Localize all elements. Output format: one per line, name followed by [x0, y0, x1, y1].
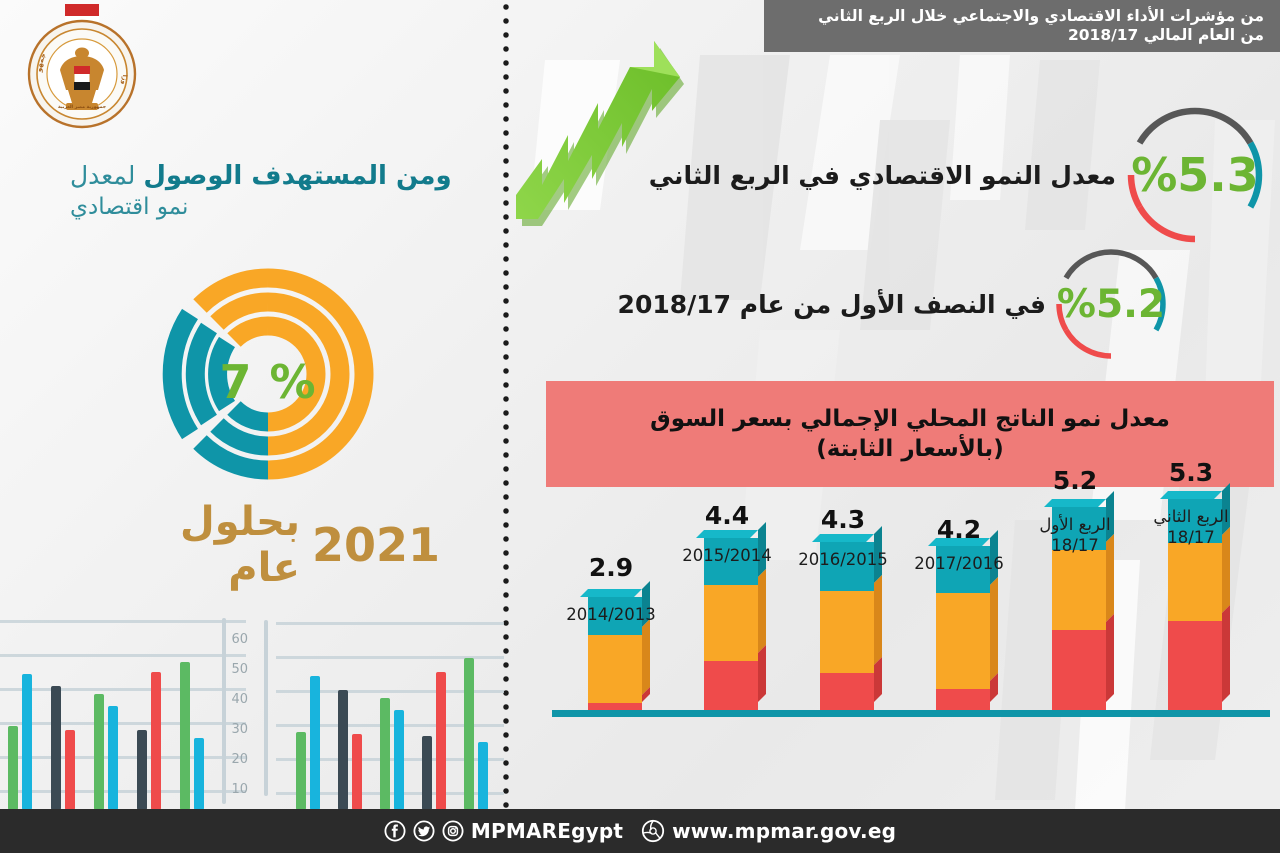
bar-category-line1: الربع الثاني: [1153, 507, 1228, 526]
decorative-chart-right: [262, 610, 507, 810]
mini-tick-20: 20: [231, 752, 248, 767]
bar-top-face: [696, 530, 750, 538]
target-growth-donut: 7 %: [118, 238, 418, 526]
chart-baseline: [552, 710, 1270, 717]
bar-top-face: [812, 534, 866, 542]
mini-tick-60: 60: [231, 632, 248, 647]
infographic-canvas: من مؤشرات الأداء الاقتصادي والاجتماعي خل…: [0, 0, 1280, 853]
target-year-prefix: بحلول عام: [100, 499, 300, 591]
facebook-icon[interactable]: [384, 820, 406, 842]
bar-segment-red: [820, 673, 874, 710]
stat-h1-value: %5.2: [1050, 243, 1172, 365]
stat-h1-ring: %5.2: [1050, 243, 1172, 365]
twitter-icon[interactable]: [413, 820, 435, 842]
bar-category-label: الربع الثاني 18/17: [1128, 507, 1254, 548]
bar-value-label: 4.3: [798, 505, 888, 534]
bar-top-face: [1044, 499, 1098, 507]
bar-category-label: 2017/2016: [896, 554, 1022, 575]
mini-tick-40: 40: [231, 692, 248, 707]
bar-segment-red: [1052, 630, 1106, 710]
bar-column: 4.3 2016/2015: [812, 542, 874, 710]
website-url: www.mpmar.gov.eg: [672, 819, 896, 843]
website-group: www.mpmar.gov.eg: [641, 819, 896, 843]
bar-segment-orange: [1168, 543, 1222, 621]
bar-segment-red: [1168, 621, 1222, 710]
bar-segment-red: [704, 661, 758, 710]
left-title-rest: لمعدل: [70, 161, 143, 190]
banner-line-2: (بالأسعار الثابتة): [816, 436, 1003, 462]
bar-segment-red: [936, 689, 990, 710]
bar-column: 5.3 الربع الثاني: [1160, 499, 1222, 710]
bar-category-line2: 18/17: [1051, 536, 1099, 555]
stat-q2-ring: %5.3: [1120, 100, 1270, 250]
mini-tick-10: 10: [231, 782, 248, 797]
donut-center-value: 7 %: [118, 238, 418, 526]
instagram-icon[interactable]: [442, 820, 464, 842]
stat-q2-caption: معدل النمو الاقتصادي في الربع الثاني: [649, 161, 1116, 190]
left-title-strong: ومن المستهدف الوصول: [143, 161, 451, 191]
left-title-line2: نمو اقتصادي: [70, 193, 500, 222]
bar-category-label: الربع الأول 18/17: [1012, 515, 1138, 556]
bar-column: 4.4 2015/2014: [696, 538, 758, 710]
stat-growth-h1: %5.2 في النصف الأول من عام 2018/17: [618, 243, 1172, 365]
gdp-growth-bar-chart: 2.9 2014/2013: [546, 500, 1276, 810]
target-year-label: 2021 بحلول عام: [100, 512, 440, 578]
bar-segment-orange: [1052, 550, 1106, 630]
footer-bar: MPMAREgypt www.mpmar.gov.eg: [0, 809, 1280, 853]
bar-category-label: 2015/2014: [664, 546, 790, 567]
social-handle: MPMAREgypt: [471, 819, 623, 843]
stat-q2-value: %5.3: [1120, 100, 1270, 250]
bar-category-label: 2014/2013: [548, 605, 674, 626]
bar-top-face: [1160, 491, 1214, 499]
stat-h1-caption: في النصف الأول من عام 2018/17: [618, 290, 1046, 319]
globe-icon[interactable]: [641, 819, 665, 843]
header-line-2: من العام المالي 2018/17: [774, 26, 1264, 45]
bar-value-label: 4.4: [682, 501, 772, 530]
bar-column: 5.2 الربع الأول: [1044, 507, 1106, 710]
mini-tick-50: 50: [231, 662, 248, 677]
target-year-value: 2021: [312, 518, 440, 572]
bar-value-label: 2.9: [566, 553, 656, 582]
bar-segment-orange: [588, 635, 642, 703]
bar-top-face: [580, 589, 634, 597]
bar-category-line2: 18/17: [1167, 528, 1215, 547]
stat-growth-q2: %5.3 معدل النمو الاقتصادي في الربع الثان…: [649, 100, 1270, 250]
bar-segment-orange: [936, 593, 990, 689]
banner-line-1: معدل نمو الناتج المحلي الإجمالي بسعر الس…: [650, 406, 1170, 432]
bar-value-label: 5.3: [1146, 458, 1236, 487]
bar-segment-orange: [820, 591, 874, 673]
bar-category-line1: الربع الأول: [1039, 515, 1110, 534]
bar-column: 4.2 2017/2016: [928, 546, 990, 710]
left-panel-title: ومن المستهدف الوصول لمعدل نمو اقتصادي: [70, 160, 500, 223]
bar-top-face: [928, 538, 982, 546]
ministry-logo: جمهورية مصر العربية وزارة التخطيط والمتا…: [22, 4, 142, 130]
bar-column: 2.9 2014/2013: [580, 597, 642, 710]
header-band: من مؤشرات الأداء الاقتصادي والاجتماعي خل…: [764, 0, 1280, 52]
mini-tick-30: 30: [231, 722, 248, 737]
decorative-chart-left: 60 50 40 30 20 10: [0, 610, 246, 810]
bar-segment-red: [588, 703, 642, 710]
bar-segment-orange: [704, 585, 758, 661]
svg-text:جمهورية مصر العربية: جمهورية مصر العربية: [58, 105, 106, 110]
header-line-1: من مؤشرات الأداء الاقتصادي والاجتماعي خل…: [774, 7, 1264, 26]
social-group: MPMAREgypt: [384, 819, 623, 843]
bar-value-label: 5.2: [1030, 466, 1120, 495]
bar-category-label: 2016/2015: [780, 550, 906, 571]
